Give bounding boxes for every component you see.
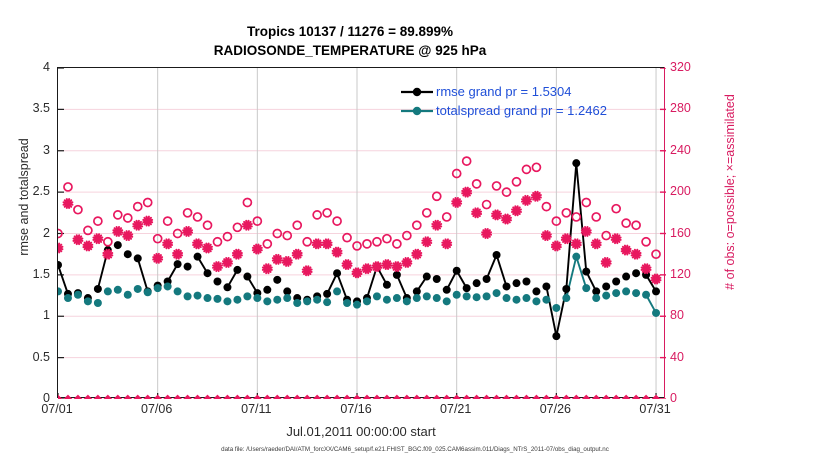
legend-rmse: rmse grand pr = 1.5304 bbox=[400, 82, 607, 101]
right-axis-tick-label: 80 bbox=[670, 308, 714, 322]
x-axis-tick-label: 07/11 bbox=[221, 402, 291, 416]
title-line-1: Tropics 10137 / 11276 = 89.899% bbox=[0, 22, 700, 41]
right-axis-label: # of obs: o=possible; ×=assimilated bbox=[723, 42, 737, 342]
x-axis-tick-label: 07/01 bbox=[22, 402, 92, 416]
legend-marker-icon bbox=[400, 85, 434, 99]
legend-totalspread: totalspread grand pr = 1.2462 bbox=[400, 101, 607, 120]
right-axis-tick-label: 240 bbox=[670, 143, 714, 157]
chart-page: Tropics 10137 / 11276 = 89.899% RADIOSON… bbox=[0, 0, 830, 470]
x-axis-tick-label: 07/16 bbox=[321, 402, 391, 416]
legend-label: totalspread grand pr = 1.2462 bbox=[434, 103, 607, 118]
chart-title: Tropics 10137 / 11276 = 89.899% RADIOSON… bbox=[0, 22, 700, 60]
left-axis-label: rmse and totalspread bbox=[17, 67, 31, 327]
left-axis-tick-label: 0.5 bbox=[4, 350, 50, 364]
data-file-footer: data file: /Users/raeder/DAI/ATM_forcXX/… bbox=[0, 446, 830, 453]
x-axis-tick-label: 07/26 bbox=[520, 402, 590, 416]
right-axis-tick-label: 120 bbox=[670, 267, 714, 281]
right-axis-ticks: 04080120160200240280320 bbox=[670, 67, 720, 398]
right-axis-tick-label: 320 bbox=[670, 60, 714, 74]
title-line-2: RADIOSONDE_TEMPERATURE @ 925 hPa bbox=[0, 41, 700, 60]
x-axis-tick-label: 07/21 bbox=[421, 402, 491, 416]
legend-label: rmse grand pr = 1.5304 bbox=[434, 84, 572, 99]
right-axis-tick-label: 160 bbox=[670, 226, 714, 240]
x-axis-label: Jul.01,2011 00:00:00 start bbox=[57, 424, 665, 439]
chart-legend: rmse grand pr = 1.5304totalspread grand … bbox=[396, 80, 611, 123]
legend-marker-icon bbox=[400, 104, 434, 118]
x-axis-ticks: 07/0107/0607/1107/1607/2107/2607/31 bbox=[57, 402, 665, 422]
right-axis-spine bbox=[664, 67, 666, 398]
right-axis-tick-label: 200 bbox=[670, 184, 714, 198]
right-axis-tick-label: 40 bbox=[670, 350, 714, 364]
x-axis-tick-label: 07/06 bbox=[122, 402, 192, 416]
right-axis-tick-label: 280 bbox=[670, 101, 714, 115]
x-axis-tick-label: 07/31 bbox=[620, 402, 690, 416]
